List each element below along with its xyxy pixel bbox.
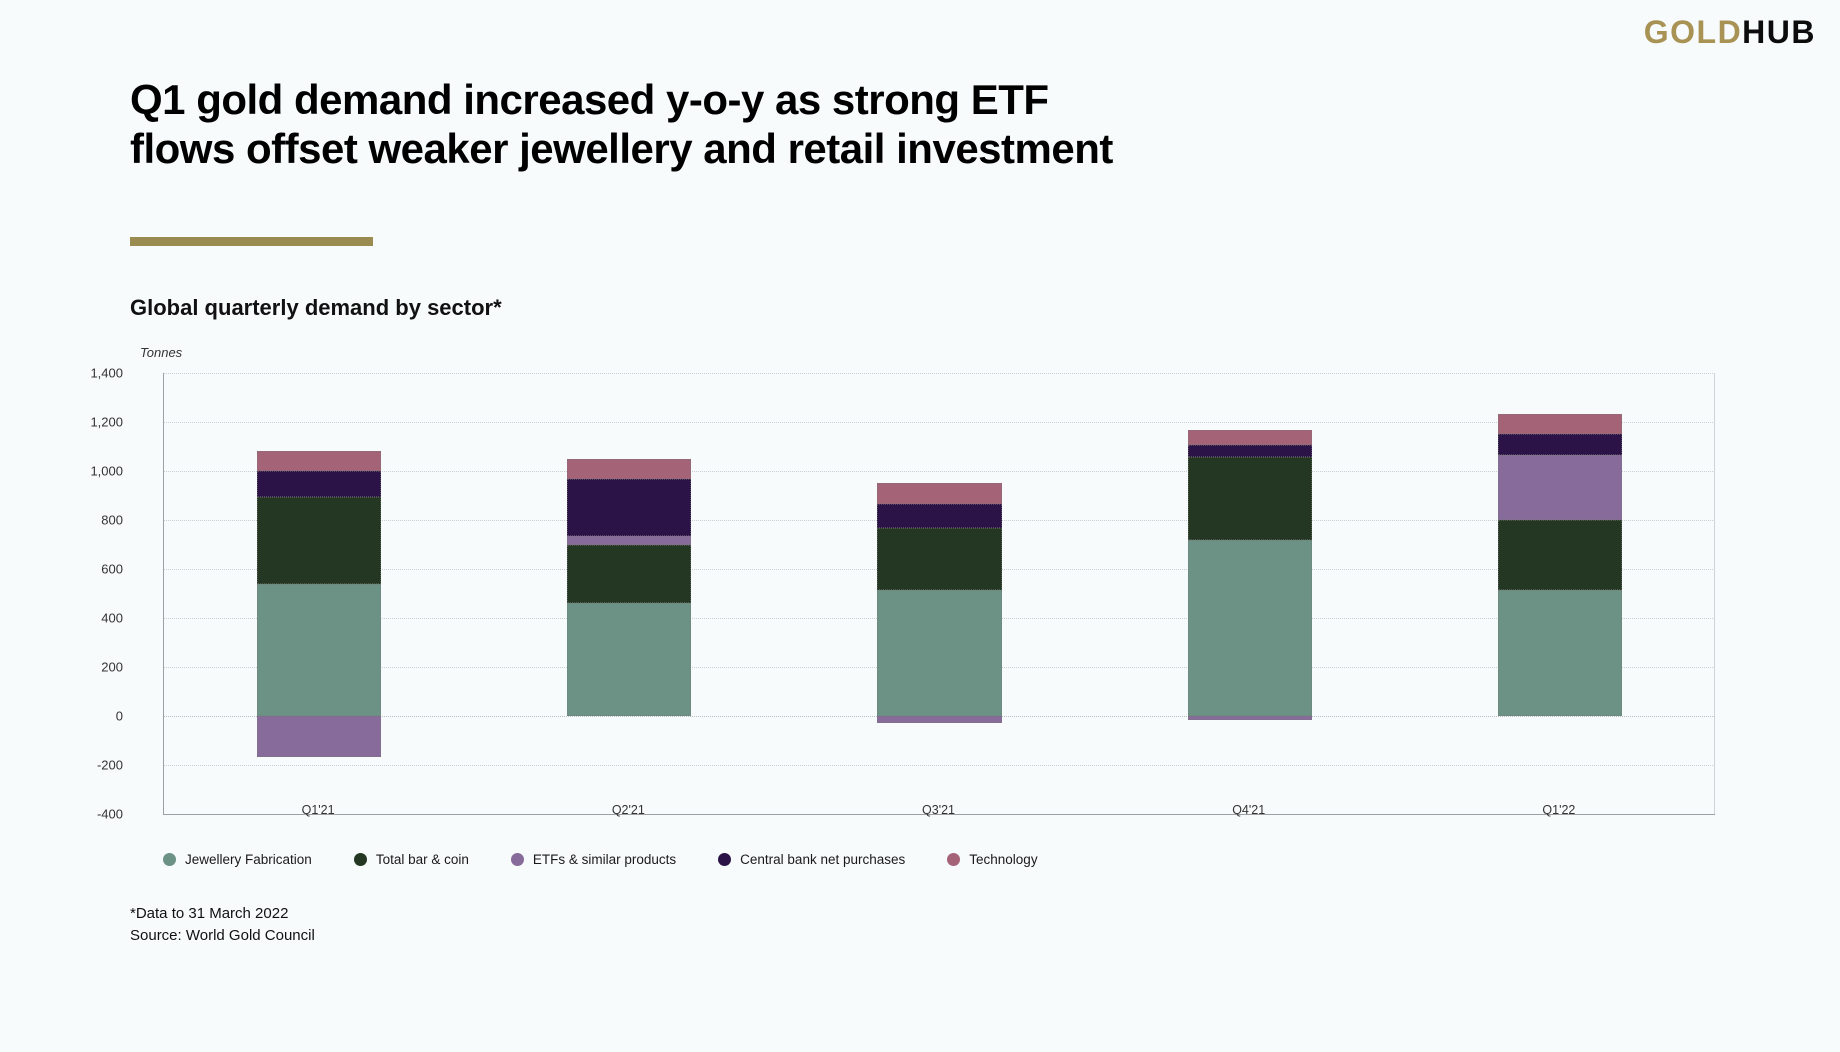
bar-group-Q421[interactable] (1188, 373, 1312, 814)
chart-plot-area (163, 373, 1715, 815)
legend-swatch-icon (354, 853, 367, 866)
y-axis-tick-label: 1,400 (53, 366, 123, 381)
bar-segment[interactable] (1498, 520, 1622, 589)
legend-item[interactable]: Total bar & coin (354, 852, 469, 867)
bar-segment[interactable] (877, 590, 1001, 716)
bar-segment[interactable] (257, 471, 381, 497)
bar-segment[interactable] (257, 716, 381, 757)
bar-segment[interactable] (567, 603, 691, 716)
bar-group-Q122[interactable] (1498, 373, 1622, 814)
data-note: *Data to 31 March 2022 (130, 903, 315, 925)
legend-item[interactable]: Technology (947, 852, 1037, 867)
bar-segment[interactable] (1498, 414, 1622, 434)
bar-group-Q221[interactable] (567, 373, 691, 814)
bar-segment[interactable] (1188, 540, 1312, 716)
bar-segment[interactable] (1188, 457, 1312, 540)
source-note: Source: World Gold Council (130, 925, 315, 947)
x-axis-tick-label: Q1'21 (218, 803, 418, 817)
legend-swatch-icon (718, 853, 731, 866)
bar-segment[interactable] (1498, 590, 1622, 716)
bar-segment[interactable] (257, 584, 381, 716)
y-axis-tick-label: -200 (53, 758, 123, 773)
bar-segment[interactable] (877, 504, 1001, 528)
x-axis-tick-label: Q2'21 (528, 803, 728, 817)
y-axis-tick-label: 200 (53, 660, 123, 675)
legend-item[interactable]: Jewellery Fabrication (163, 852, 312, 867)
legend-label: Central bank net purchases (740, 852, 905, 867)
bar-segment[interactable] (1188, 445, 1312, 457)
bar-segment[interactable] (567, 545, 691, 603)
y-axis-units-label: Tonnes (140, 345, 182, 360)
bar-group-Q321[interactable] (877, 373, 1001, 814)
bar-segment[interactable] (257, 451, 381, 471)
bar-segment[interactable] (877, 528, 1001, 590)
y-axis-tick-label: 400 (53, 611, 123, 626)
legend-item[interactable]: Central bank net purchases (718, 852, 905, 867)
logo-gold-text: GOLD (1644, 14, 1742, 50)
bar-segment[interactable] (1498, 434, 1622, 455)
chart-legend: Jewellery FabricationTotal bar & coinETF… (163, 852, 1080, 867)
bar-segment[interactable] (567, 536, 691, 546)
title-underline-rule (130, 237, 373, 246)
y-axis-tick-label: 0 (53, 709, 123, 724)
legend-swatch-icon (947, 853, 960, 866)
legend-item[interactable]: ETFs & similar products (511, 852, 676, 867)
page-title: Q1 gold demand increased y-o-y as strong… (130, 75, 1130, 173)
bar-segment[interactable] (877, 716, 1001, 723)
plot-right-border (1714, 373, 1715, 814)
chart-container: Tonnes 1,4001,2001,0008006004002000-200-… (130, 355, 1715, 825)
bar-segment[interactable] (567, 479, 691, 535)
y-axis-tick-label: 1,200 (53, 415, 123, 430)
legend-label: Technology (969, 852, 1037, 867)
logo-hub-text: HUB (1742, 14, 1816, 50)
bar-segment[interactable] (257, 497, 381, 584)
bar-segment[interactable] (1188, 430, 1312, 445)
bar-segment[interactable] (1188, 716, 1312, 720)
legend-label: Total bar & coin (376, 852, 469, 867)
legend-label: ETFs & similar products (533, 852, 676, 867)
bar-segment[interactable] (1498, 455, 1622, 521)
legend-swatch-icon (511, 853, 524, 866)
chart-subtitle: Global quarterly demand by sector* (130, 295, 502, 321)
legend-swatch-icon (163, 853, 176, 866)
x-axis-tick-label: Q4'21 (1149, 803, 1349, 817)
bar-group-Q121[interactable] (257, 373, 381, 814)
goldhub-logo: GOLDHUB (1644, 14, 1816, 51)
y-axis-tick-label: -400 (53, 807, 123, 822)
y-axis-tick-label: 800 (53, 513, 123, 528)
x-axis-tick-label: Q1'22 (1459, 803, 1659, 817)
legend-label: Jewellery Fabrication (185, 852, 312, 867)
bar-segment[interactable] (877, 483, 1001, 504)
y-axis-tick-label: 600 (53, 562, 123, 577)
y-axis-tick-label: 1,000 (53, 464, 123, 479)
x-axis-tick-label: Q3'21 (839, 803, 1039, 817)
bar-segment[interactable] (567, 459, 691, 479)
chart-footnotes: *Data to 31 March 2022 Source: World Gol… (130, 903, 315, 947)
